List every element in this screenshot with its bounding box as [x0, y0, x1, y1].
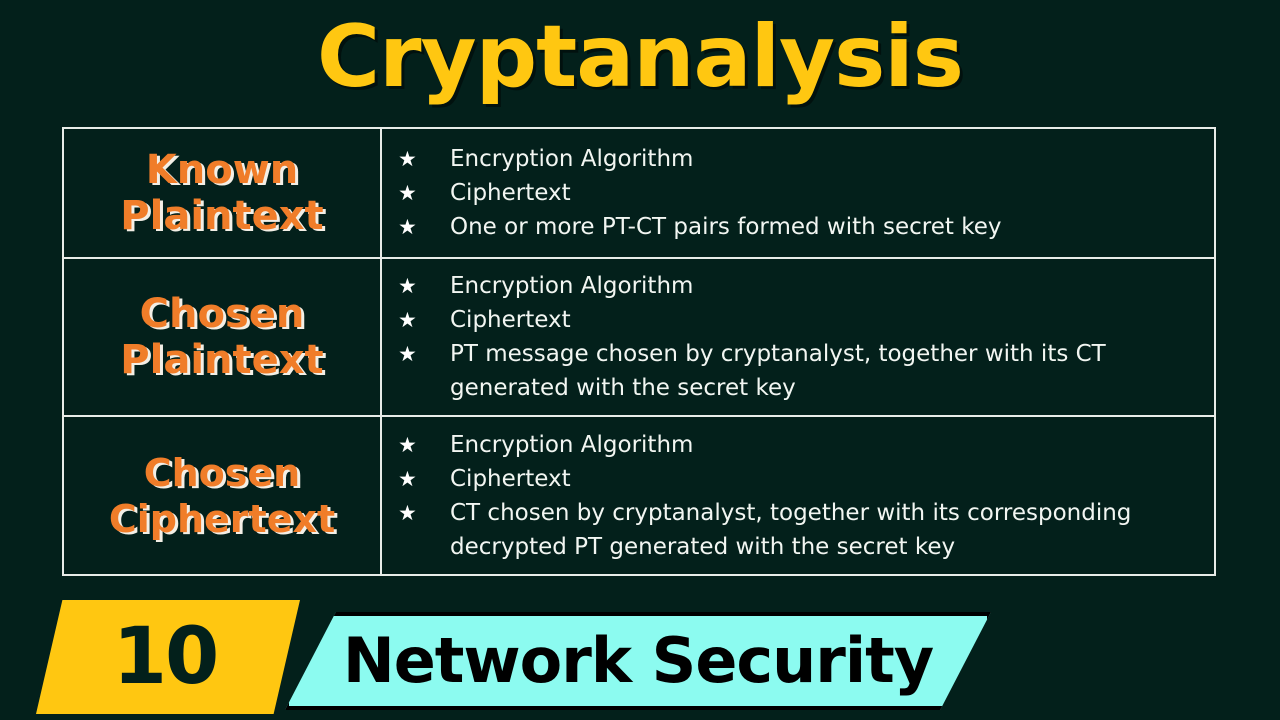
star-icon: ★	[398, 337, 450, 371]
list-item: ★ One or more PT-CT pairs formed with se…	[398, 210, 1204, 244]
list-item-text: Encryption Algorithm	[450, 428, 1204, 462]
attack-details-cell: ★ Encryption Algorithm ★ Ciphertext ★ CT…	[382, 417, 1214, 574]
list-item-text: Ciphertext	[450, 462, 1204, 496]
list-item: ★ PT message chosen by cryptanalyst, tog…	[398, 337, 1204, 405]
star-icon: ★	[398, 269, 450, 303]
attack-type-label-line1: Chosen	[109, 450, 335, 496]
star-icon: ★	[398, 142, 450, 176]
attack-details-cell: ★ Encryption Algorithm ★ Ciphertext ★ On…	[382, 129, 1214, 257]
list-item: ★ CT chosen by cryptanalyst, together wi…	[398, 496, 1204, 564]
bottom-banner: 10 Network Security	[0, 596, 1280, 720]
list-item-text: Encryption Algorithm	[450, 269, 1204, 303]
list-item: ★ Ciphertext	[398, 176, 1204, 210]
cryptanalysis-attacks-table: Known Plaintext ★ Encryption Algorithm ★…	[62, 127, 1216, 576]
star-icon: ★	[398, 496, 450, 530]
attack-type-cell: Known Plaintext	[64, 129, 382, 257]
attack-type-label: Known Plaintext	[120, 147, 323, 239]
attack-type-label-line1: Known	[120, 147, 323, 193]
attack-type-label-line2: Ciphertext	[109, 496, 335, 542]
lecture-number-badge: 10	[36, 600, 300, 714]
star-icon: ★	[398, 210, 450, 244]
star-icon: ★	[398, 462, 450, 496]
table-row: Known Plaintext ★ Encryption Algorithm ★…	[64, 129, 1214, 259]
attack-type-label-line2: Plaintext	[120, 337, 323, 383]
lecture-number: 10	[113, 617, 224, 697]
attack-type-label-line1: Chosen	[120, 291, 323, 337]
subject-badge: Network Security	[285, 612, 991, 710]
list-item: ★ Encryption Algorithm	[398, 269, 1204, 303]
star-icon: ★	[398, 428, 450, 462]
page-title: Cryptanalysis	[0, 6, 1280, 108]
list-item: ★ Encryption Algorithm	[398, 428, 1204, 462]
list-item-text: CT chosen by cryptanalyst, together with…	[450, 496, 1204, 564]
list-item-text: Ciphertext	[450, 303, 1204, 337]
list-item: ★ Encryption Algorithm	[398, 142, 1204, 176]
star-icon: ★	[398, 303, 450, 337]
table-row: Chosen Plaintext ★ Encryption Algorithm …	[64, 259, 1214, 417]
list-item-text: PT message chosen by cryptanalyst, toget…	[450, 337, 1204, 405]
attack-type-cell: Chosen Plaintext	[64, 259, 382, 415]
list-item: ★ Ciphertext	[398, 462, 1204, 496]
attack-type-cell: Chosen Ciphertext	[64, 417, 382, 574]
list-item-text: One or more PT-CT pairs formed with secr…	[450, 210, 1204, 244]
attack-type-label: Chosen Plaintext	[120, 291, 323, 383]
list-item-text: Encryption Algorithm	[450, 142, 1204, 176]
attack-details-cell: ★ Encryption Algorithm ★ Ciphertext ★ PT…	[382, 259, 1214, 415]
attack-type-label-line2: Plaintext	[120, 193, 323, 239]
list-item: ★ Ciphertext	[398, 303, 1204, 337]
subject-name: Network Security	[343, 628, 933, 694]
star-icon: ★	[398, 176, 450, 210]
table-row: Chosen Ciphertext ★ Encryption Algorithm…	[64, 417, 1214, 574]
attack-type-label: Chosen Ciphertext	[109, 450, 335, 542]
list-item-text: Ciphertext	[450, 176, 1204, 210]
